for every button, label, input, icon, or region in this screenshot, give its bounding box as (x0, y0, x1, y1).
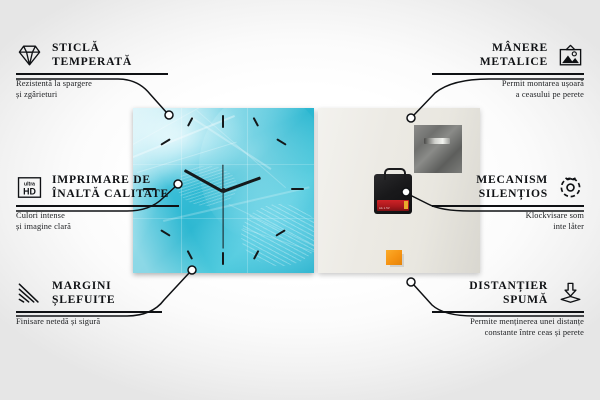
feature-title: IMPRIMARE DE ÎNALTĂ CALITATE (52, 173, 169, 201)
clock-tick (291, 188, 304, 190)
connector-dot-foam-spacer (407, 278, 415, 286)
svg-text:HD: HD (23, 186, 36, 196)
hanger-keyhole-slot (424, 138, 450, 144)
divider (16, 205, 179, 206)
clock-tick (187, 250, 193, 260)
feature-silent-mechanism: MECANISM SILENȚIOS Klockvisare som inte … (432, 173, 584, 232)
feature-subtitle: Permite menținerea unei distanțe constan… (432, 316, 584, 339)
clock-tick (222, 252, 224, 265)
divider (432, 73, 584, 74)
battery-positive-tip (404, 201, 408, 209)
metal-hanger (414, 125, 462, 173)
feature-subtitle: Klockvisare som inte låter (432, 210, 584, 233)
divider (16, 311, 162, 312)
gear-icon (557, 175, 584, 200)
feature-title: MARGINI ȘLEFUITE (52, 279, 115, 307)
ultra-hd-icon: ultra HD (16, 175, 43, 200)
infographic-canvas: AA 1.5V (0, 0, 600, 400)
feature-foam-spacer: DISTANȚIER SPUMĂ Permite menținerea unei… (432, 279, 584, 338)
picture-frame-icon (557, 43, 584, 68)
battery-label: AA 1.5V (379, 207, 390, 210)
clock-hand-second (222, 191, 223, 249)
feature-subtitle: Rezistentă la spargere și zgârieturi (16, 78, 168, 101)
feature-title: MECANISM SILENȚIOS (476, 173, 548, 201)
feature-title: DISTANȚIER SPUMĂ (469, 279, 548, 307)
feature-subtitle: Finisare netedă și sigură (16, 316, 162, 327)
foam-spacer-icon (557, 281, 584, 306)
foam-spacer (386, 250, 402, 265)
feature-title: STICLĂ TEMPERATĂ (52, 41, 132, 69)
product-photo: AA 1.5V (133, 108, 480, 273)
feature-high-quality-print: ultra HD IMPRIMARE DE ÎNALTĂ CALITATE Cu… (16, 173, 179, 232)
feature-subtitle: Culori intense și imagine clară (16, 210, 179, 233)
feature-polished-edges: MARGINI ȘLEFUITE Finisare netedă și sigu… (16, 279, 162, 327)
feature-tempered-glass: STICLĂ TEMPERATĂ Rezistentă la spargere … (16, 41, 168, 100)
polished-edges-icon (16, 281, 43, 306)
feature-subtitle: Permit montarea ușoară a ceasului pe per… (432, 78, 584, 101)
mechanism-hanging-loop (384, 168, 406, 180)
feature-metal-hangers: MÂNERE METALICE Permit montarea ușoară a… (432, 41, 584, 100)
clock-hand-second-tail (222, 165, 223, 191)
diamond-icon (16, 43, 43, 68)
divider (16, 73, 168, 74)
clock-center-hub (221, 188, 226, 193)
battery: AA 1.5V (377, 200, 409, 211)
divider (432, 311, 584, 312)
feature-title: MÂNERE METALICE (480, 41, 548, 69)
quartz-mechanism: AA 1.5V (374, 174, 412, 214)
divider (432, 205, 584, 206)
clock-tick (222, 115, 224, 128)
